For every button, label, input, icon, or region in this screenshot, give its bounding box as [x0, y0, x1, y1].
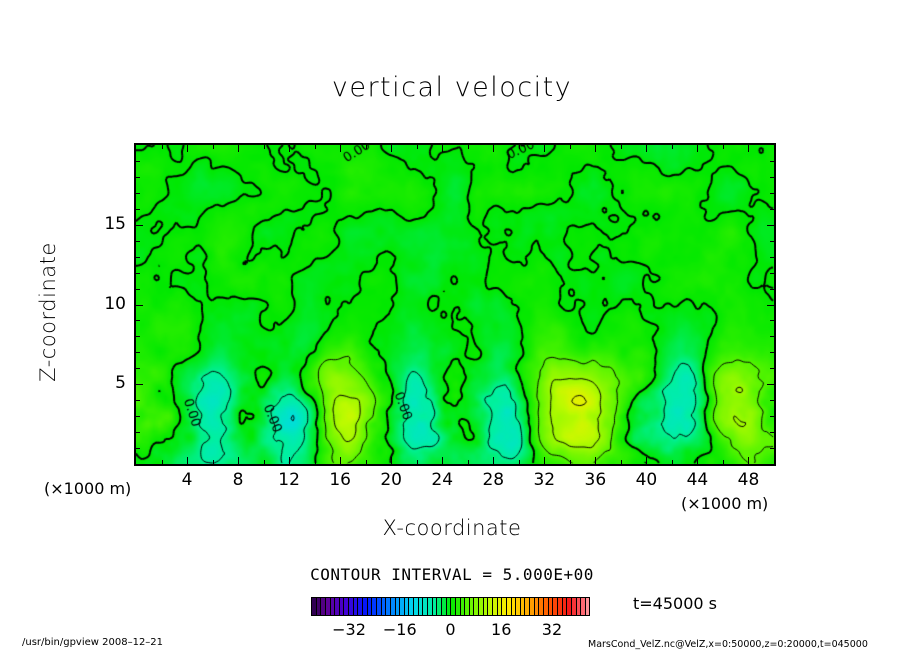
colorbar-tick-label: 0: [426, 620, 476, 639]
x-axis-tick-label: 48: [726, 470, 770, 490]
y-axis-tick-right: [770, 241, 774, 242]
y-axis-tick-right: [770, 368, 774, 369]
x-axis-tick-top: [646, 145, 647, 152]
x-axis-tick: [519, 460, 520, 464]
x-axis-tick-top: [672, 145, 673, 149]
y-axis-title: Z-coordinate: [36, 212, 60, 412]
x-axis-tick-label: 40: [624, 470, 668, 490]
x-axis-tick: [264, 460, 265, 464]
x-axis-tick: [442, 457, 443, 464]
x-axis-tick-label: 32: [522, 470, 566, 490]
y-axis-tick: [136, 161, 140, 162]
x-axis-tick: [646, 457, 647, 464]
y-axis-tick-right: [767, 305, 774, 306]
x-axis-tick-top: [315, 145, 316, 149]
y-axis-tick-right: [770, 273, 774, 274]
colorbar-tick-label: −32: [324, 620, 374, 639]
y-axis-tick-right: [770, 209, 774, 210]
y-axis-tick: [136, 400, 140, 401]
x-axis-tick: [672, 460, 673, 464]
colorbar-tick-label: −16: [375, 620, 425, 639]
x-axis-tick-label: 20: [369, 470, 413, 490]
x-axis-tick: [340, 457, 341, 464]
y-axis-tick-right: [770, 336, 774, 337]
y-axis-tick: [136, 209, 140, 210]
x-axis-tick-top: [723, 145, 724, 149]
y-axis-tick: [136, 432, 140, 433]
x-axis-tick: [315, 460, 316, 464]
x-axis-tick-top: [697, 145, 698, 152]
y-axis-tick-right: [767, 225, 774, 226]
footer-command: /usr/bin/gpview 2008–12–21: [22, 637, 163, 648]
y-axis-tick-right: [770, 177, 774, 178]
y-axis-tick: [136, 336, 140, 337]
x-axis-tick: [417, 460, 418, 464]
y-axis-tick-right: [770, 289, 774, 290]
x-axis-tick-top: [570, 145, 571, 149]
y-axis-tick-label: 15: [86, 214, 126, 234]
x-axis-tick-label: 8: [216, 470, 260, 490]
contour-field-canvas: [136, 145, 774, 464]
footer-datasource: MarsCond_VelZ.nc@VelZ,x=0:50000,z=0:2000…: [588, 639, 868, 650]
x-axis-tick: [544, 457, 545, 464]
x-axis-tick: [621, 460, 622, 464]
y-axis-tick: [136, 177, 140, 178]
y-axis-tick-right: [770, 257, 774, 258]
contour-interval-label: CONTOUR INTERVAL = 5.000E+00: [0, 565, 904, 584]
y-axis-tick-right: [770, 448, 774, 449]
x-axis-tick-top: [366, 145, 367, 149]
y-axis-tick-right: [767, 384, 774, 385]
x-axis-tick-label: 12: [267, 470, 311, 490]
x-axis-tick-label: 36: [573, 470, 617, 490]
x-axis-tick-label: 28: [471, 470, 515, 490]
x-axis-tick-top: [162, 145, 163, 149]
x-axis-tick-top: [493, 145, 494, 152]
x-axis-tick: [366, 460, 367, 464]
x-axis-tick-top: [213, 145, 214, 149]
x-axis-tick-top: [187, 145, 188, 152]
x-axis-tick-top: [544, 145, 545, 152]
y-axis-tick: [136, 273, 140, 274]
x-axis-tick-top: [468, 145, 469, 149]
y-axis-tick-label: 10: [86, 294, 126, 314]
y-axis-tick: [136, 448, 140, 449]
y-axis-tick-right: [770, 161, 774, 162]
y-axis-tick-right: [770, 352, 774, 353]
colorbar-cell: [586, 598, 590, 615]
x-axis-tick: [162, 460, 163, 464]
x-axis-tick: [213, 460, 214, 464]
x-axis-units-right: (×1000 m): [681, 494, 768, 513]
x-axis-tick: [748, 457, 749, 464]
colorbar-tick-label: 32: [527, 620, 577, 639]
x-axis-tick: [723, 460, 724, 464]
y-axis-tick: [136, 384, 143, 385]
x-axis-tick-top: [442, 145, 443, 152]
y-axis-tick-right: [770, 416, 774, 417]
x-axis-units-left: (×1000 m): [44, 479, 131, 498]
x-axis-tick: [289, 457, 290, 464]
y-axis-tick: [136, 320, 140, 321]
y-axis-tick: [136, 416, 140, 417]
x-axis-tick-top: [519, 145, 520, 149]
y-axis-tick-right: [770, 320, 774, 321]
x-axis-tick: [238, 457, 239, 464]
x-axis-tick-top: [391, 145, 392, 152]
y-axis-tick: [136, 305, 143, 306]
y-axis-tick-right: [770, 432, 774, 433]
x-axis-tick-top: [264, 145, 265, 149]
x-axis-tick-label: 16: [318, 470, 362, 490]
y-axis-tick: [136, 352, 140, 353]
colorbar-tick-label: 16: [476, 620, 526, 639]
x-axis-tick: [697, 457, 698, 464]
x-axis-tick-top: [595, 145, 596, 152]
x-axis-tick: [391, 457, 392, 464]
page-title: vertical velocity: [0, 72, 904, 103]
x-axis-tick: [595, 457, 596, 464]
x-axis-tick-top: [340, 145, 341, 152]
x-axis-tick-top: [417, 145, 418, 149]
x-axis-tick-top: [238, 145, 239, 152]
y-axis-tick: [136, 241, 140, 242]
time-label: t=45000 s: [633, 594, 717, 613]
y-axis-tick: [136, 257, 140, 258]
y-axis-tick-right: [770, 193, 774, 194]
y-axis-tick-right: [770, 400, 774, 401]
x-axis-tick: [493, 457, 494, 464]
y-axis-tick: [136, 193, 140, 194]
contour-plot-area[interactable]: [134, 143, 776, 466]
x-axis-tick-top: [289, 145, 290, 152]
y-axis-tick: [136, 225, 143, 226]
y-axis-tick: [136, 368, 140, 369]
y-axis-tick-label: 5: [86, 373, 126, 393]
x-axis-title: X-coordinate: [0, 516, 904, 540]
x-axis-tick-top: [621, 145, 622, 149]
x-axis-tick: [570, 460, 571, 464]
y-axis-tick: [136, 289, 140, 290]
x-axis-tick: [187, 457, 188, 464]
x-axis-tick-label: 24: [420, 470, 464, 490]
x-axis-tick-label: 44: [675, 470, 719, 490]
x-axis-tick: [468, 460, 469, 464]
x-axis-tick-top: [748, 145, 749, 152]
x-axis-tick-label: 4: [165, 470, 209, 490]
colorbar[interactable]: [311, 597, 590, 616]
